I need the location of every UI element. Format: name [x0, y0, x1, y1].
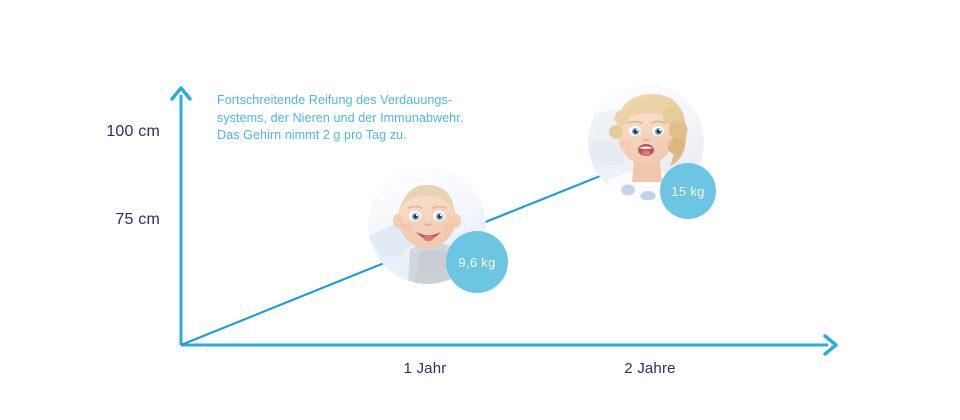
- x-axis-label-2-jahre: 2 Jahre: [590, 360, 710, 377]
- annotation-line-3: Das Gehirn nimmt 2 g pro Tag zu.: [217, 127, 517, 145]
- x-axis-label-1-jahr: 1 Jahr: [365, 360, 485, 377]
- growth-chart: 100 cm 75 cm 1 Jahr 2 Jahre Fortschreite…: [0, 0, 960, 420]
- y-axis-label-75cm: 75 cm: [40, 211, 160, 229]
- y-axis-label-100cm: 100 cm: [40, 123, 160, 141]
- weight-badge-1-jahr: 9,6 kg: [446, 231, 508, 293]
- growth-line-segment-1: [181, 255, 404, 345]
- weight-badge-2-jahre: 15 kg: [660, 163, 716, 219]
- annotation-line-1: Fortschreitende Reifung des Verdauungs-: [217, 92, 517, 110]
- annotation-line-2: systems, der Nieren und der Immunabwehr.: [217, 110, 517, 128]
- annotation-text: Fortschreitende Reifung des Verdauungs- …: [217, 92, 517, 145]
